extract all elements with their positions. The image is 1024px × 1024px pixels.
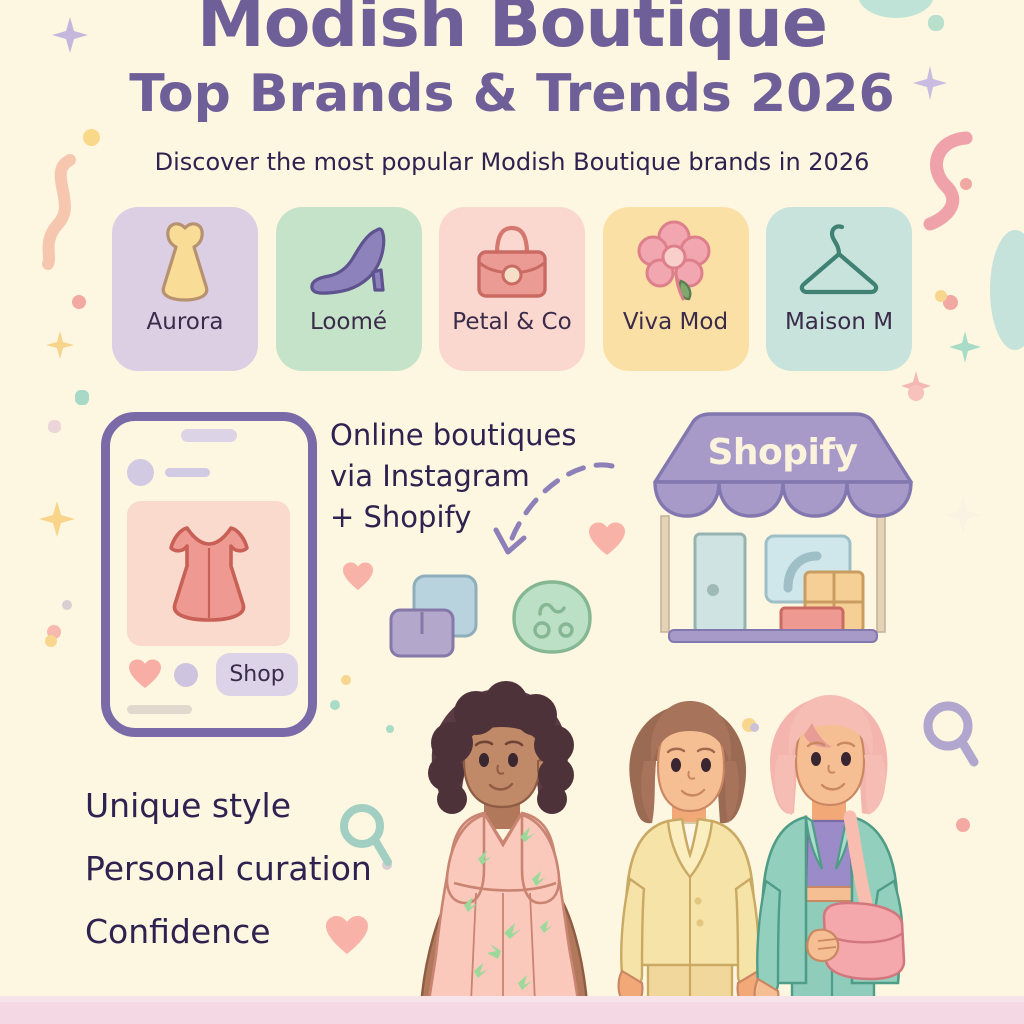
- sparkle-icon: [948, 330, 982, 364]
- woman-floral-dress: [422, 681, 586, 1024]
- callout-line-3: + Shopify: [330, 497, 590, 538]
- callout-line-2: via Instagram: [330, 456, 590, 497]
- middle-callout-text: Online boutiques via Instagram + Shopify: [330, 415, 590, 539]
- coin-purse-icon: [510, 578, 594, 656]
- avatar: [127, 459, 154, 486]
- awning-label: Shopify: [645, 432, 920, 473]
- page-subtitle: Top Brands & Trends 2026: [0, 64, 1024, 124]
- decor-dot: [960, 178, 972, 190]
- heart-icon: [588, 522, 626, 556]
- brand-card-row: Aurora Loomé Petal & Co: [112, 207, 912, 371]
- flower-icon: [603, 207, 749, 307]
- brand-label: Petal & Co: [439, 309, 585, 335]
- benefit-list: Unique style Personal curation Confidenc…: [85, 786, 372, 975]
- sparkle-icon: [900, 370, 932, 402]
- decor-dot: [72, 295, 86, 309]
- callout-line-1: Online boutiques: [330, 415, 590, 456]
- sparkle-icon: [45, 330, 75, 360]
- shop-button[interactable]: Shop: [216, 653, 298, 696]
- sparkle-icon: [38, 500, 76, 538]
- decor-dot: [341, 675, 351, 685]
- page-title: Modish Boutique: [0, 0, 1024, 58]
- brand-card-petal-and-co[interactable]: Petal & Co: [439, 207, 585, 371]
- heart-icon[interactable]: [128, 659, 162, 689]
- hanger-icon: [766, 207, 912, 307]
- floor-strip: [0, 1002, 1024, 1024]
- brand-card-loome[interactable]: Loomé: [276, 207, 422, 371]
- decor-blob: [990, 230, 1024, 350]
- list-item: Personal curation: [85, 849, 372, 888]
- decor-dot: [943, 295, 958, 310]
- username-placeholder-bar: [165, 468, 210, 477]
- decor-dot: [47, 625, 61, 639]
- infographic-poster: Modish Boutique Top Brands & Trends 2026…: [0, 0, 1024, 1024]
- high-heel-icon: [276, 207, 422, 307]
- decor-dot: [45, 635, 57, 647]
- brand-label: Viva Mod: [603, 309, 749, 335]
- decor-dot: [908, 385, 924, 401]
- dress-icon: [112, 207, 258, 307]
- shopping-bag-icon: [388, 570, 493, 660]
- brand-label: Loomé: [276, 309, 422, 335]
- poster-header: Modish Boutique Top Brands & Trends 2026…: [0, 0, 1024, 176]
- decor-dot: [330, 700, 340, 710]
- brand-card-viva-mod[interactable]: Viva Mod: [603, 207, 749, 371]
- decor-dot: [75, 390, 89, 405]
- brand-label: Maison M: [766, 309, 912, 335]
- brand-card-maison-m[interactable]: Maison M: [766, 207, 912, 371]
- woman-yellow-suit: [619, 701, 762, 1024]
- woman-teal-coat: [755, 695, 904, 1024]
- page-tagline: Discover the most popular Modish Boutiqu…: [0, 148, 1024, 176]
- product-image-card: [127, 501, 290, 646]
- list-item: Unique style: [85, 786, 372, 825]
- shopify-storefront-illustration: Shopify: [645, 408, 920, 648]
- decor-dot: [48, 420, 61, 433]
- decor-dot: [62, 600, 72, 610]
- heart-icon: [342, 562, 374, 591]
- list-item: Confidence: [85, 912, 372, 951]
- phone-mockup: Shop: [101, 412, 317, 737]
- three-women-illustration: [380, 665, 980, 1024]
- brand-label: Aurora: [112, 309, 258, 335]
- sparkle-icon: [943, 495, 983, 535]
- handbag-icon: [439, 207, 585, 307]
- phone-notch: [181, 429, 237, 442]
- comment-icon[interactable]: [174, 663, 198, 687]
- caption-placeholder-bar: [127, 705, 192, 714]
- brand-card-aurora[interactable]: Aurora: [112, 207, 258, 371]
- decor-dot: [935, 290, 947, 302]
- dress-icon: [157, 518, 261, 630]
